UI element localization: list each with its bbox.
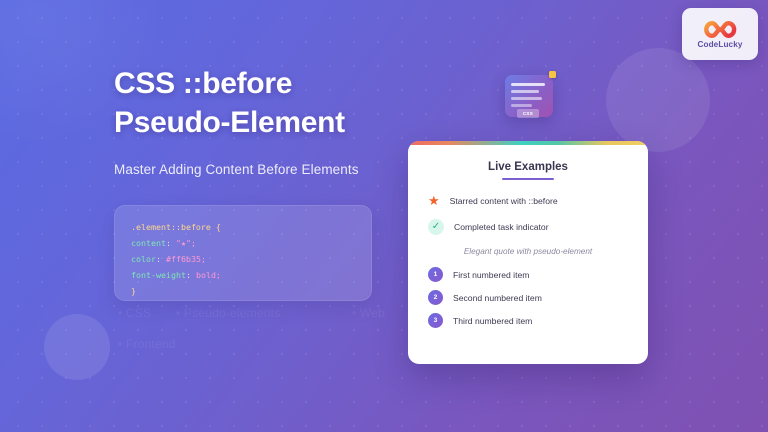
slide-canvas: • CSS • Pseudo-elements • Web • Frontend… [0, 0, 768, 432]
code-colon: : [186, 270, 196, 280]
check-icon: ✓ [432, 222, 440, 232]
code-close-brace: } [131, 284, 355, 300]
doc-line-1 [511, 83, 545, 86]
decorative-circle-top-right [606, 48, 710, 152]
card-title: Live Examples [408, 161, 648, 173]
check-icon-badge: ✓ [428, 219, 444, 235]
page-subtitle: Master Adding Content Before Elements [114, 162, 414, 177]
card-gradient-bar [408, 141, 648, 145]
watermark-tag-css: • CSS [118, 306, 151, 320]
list-item: ★ Starred content with ::before [428, 194, 628, 207]
title-line-1: CSS ::before [114, 64, 414, 103]
code-property: color [131, 254, 156, 264]
code-snippet-block: .element::before { content: "★"; color: … [114, 205, 372, 301]
code-declaration-line: color: #ff6b35; [131, 252, 355, 268]
numbered-list-item: 3 Third numbered item [428, 313, 628, 328]
number-badge: 3 [428, 313, 443, 328]
title-line-2: Pseudo-Element [114, 103, 414, 142]
code-property: font-weight [131, 270, 186, 280]
list-item: ✓ Completed task indicator [428, 219, 628, 235]
numbered-list-item: 1 First numbered item [428, 267, 628, 282]
list-item-label: Completed task indicator [454, 222, 549, 232]
watermark-tag-pseudo-elements: • Pseudo-elements [176, 306, 280, 320]
code-property: content [131, 238, 166, 248]
numbered-item-label: Third numbered item [453, 316, 532, 326]
code-value: bold; [196, 270, 221, 280]
number-badge: 2 [428, 290, 443, 305]
card-body: ★ Starred content with ::before ✓ Comple… [408, 180, 648, 328]
code-colon: : [156, 254, 166, 264]
doc-line-4 [511, 104, 532, 107]
code-declaration-line: font-weight: bold; [131, 268, 355, 284]
hero-text-column: CSS ::before Pseudo-Element Master Addin… [114, 64, 414, 301]
infinity-icon [703, 20, 737, 39]
live-examples-card: Live Examples ★ Starred content with ::b… [408, 141, 648, 364]
code-value: #ff6b35; [166, 254, 206, 264]
brand-logo: CodeLucky [682, 8, 758, 60]
quote-text: Elegant quote with pseudo-element [428, 247, 628, 256]
list-item-label: Starred content with ::before [450, 196, 558, 206]
watermark-tag-web: • Web [352, 306, 385, 320]
doc-badge-icon [549, 71, 556, 78]
code-selector-line: .element::before { [131, 220, 355, 236]
watermark-tag-frontend: • Frontend [118, 337, 176, 351]
star-icon: ★ [428, 194, 440, 207]
code-declaration-line: content: "★"; [131, 236, 355, 252]
decorative-circle-bottom-left [44, 314, 110, 380]
doc-line-3 [511, 97, 542, 100]
code-value: "★"; [176, 238, 196, 248]
decorative-css-chip: CSS [517, 109, 539, 118]
page-title: CSS ::before Pseudo-Element [114, 64, 414, 142]
numbered-list-item: 2 Second numbered item [428, 290, 628, 305]
numbered-item-label: First numbered item [453, 270, 529, 280]
number-badge: 1 [428, 267, 443, 282]
code-colon: : [166, 238, 176, 248]
doc-line-2 [511, 90, 539, 93]
numbered-item-label: Second numbered item [453, 293, 542, 303]
brand-name: CodeLucky [697, 40, 742, 49]
